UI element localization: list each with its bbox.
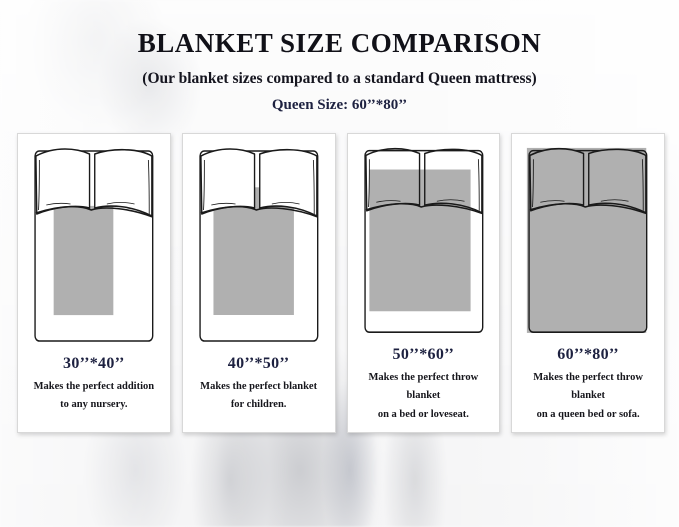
bed-diagram-icon — [359, 142, 489, 339]
comparison-panels: 30’’*40’’ Makes the perfect addition to … — [17, 133, 665, 433]
size-panel: 40’’*50’’ Makes the perfect blanket for … — [182, 133, 336, 433]
description-line-1: Makes the perfect throw blanket — [521, 369, 655, 406]
bed-illustration — [194, 142, 324, 348]
bed-illustration — [359, 142, 489, 339]
bed-diagram-icon — [29, 142, 159, 348]
description-line-2: on a queen bed or sofa. — [521, 406, 655, 424]
size-panel: 50’’*60’’ Makes the perfect throw blanke… — [347, 133, 501, 433]
queen-size-note: Queen Size: 60’’*80’’ — [0, 88, 679, 114]
blanket-rect — [54, 206, 114, 315]
bed-diagram-icon — [523, 142, 653, 339]
bed-illustration — [523, 142, 653, 339]
size-label: 50’’*60’’ — [355, 346, 493, 364]
size-label: 60’’*80’’ — [519, 346, 657, 364]
description-line-1: Makes the perfect addition — [27, 378, 161, 396]
panel-description: Makes the perfect addition to any nurser… — [25, 378, 163, 415]
description-line-2: on a bed or loveseat. — [357, 406, 491, 424]
bed-illustration — [29, 142, 159, 348]
panel-description: Makes the perfect blanket for children. — [190, 378, 328, 415]
description-line-2: for children. — [192, 396, 326, 414]
description-line-1: Makes the perfect throw blanket — [357, 369, 491, 406]
description-line-1: Makes the perfect blanket — [192, 378, 326, 396]
page-subtitle: (Our blanket sizes compared to a standar… — [0, 59, 679, 88]
panel-description: Makes the perfect throw blanket on a bed… — [355, 369, 493, 424]
header-block: BLANKET SIZE COMPARISON (Our blanket siz… — [0, 0, 679, 114]
size-panel: 60’’*80’’ Makes the perfect throw blanke… — [511, 133, 665, 433]
page-title: BLANKET SIZE COMPARISON — [0, 0, 679, 59]
description-line-2: to any nursery. — [27, 396, 161, 414]
bed-diagram-icon — [194, 142, 324, 348]
size-panel: 30’’*40’’ Makes the perfect addition to … — [17, 133, 171, 433]
size-label: 40’’*50’’ — [190, 355, 328, 373]
panel-description: Makes the perfect throw blanket on a que… — [519, 369, 657, 424]
size-label: 30’’*40’’ — [25, 355, 163, 373]
